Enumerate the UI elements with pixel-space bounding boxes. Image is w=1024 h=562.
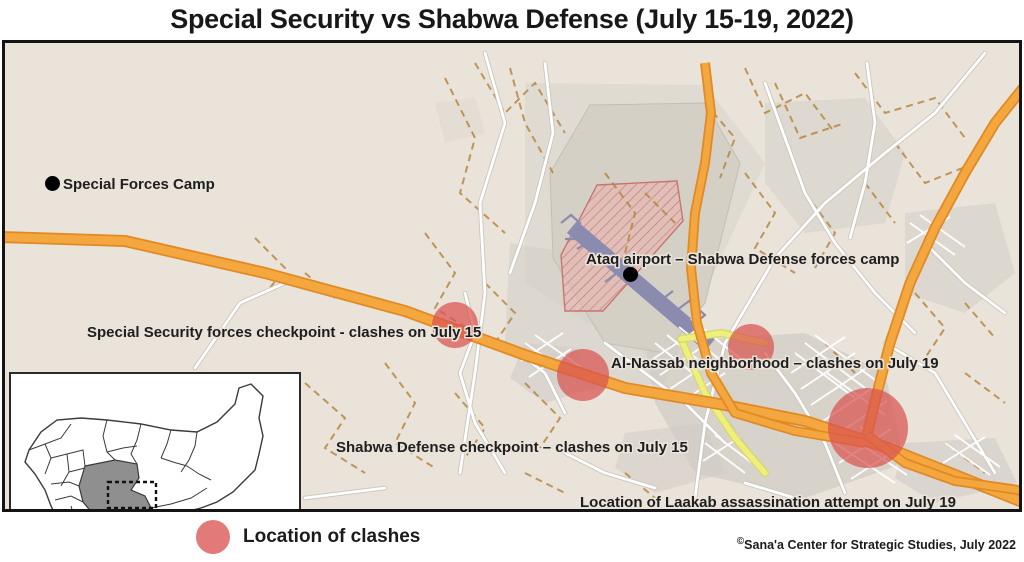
legend-item-clashes: Location of clashes	[196, 520, 420, 554]
source-credit: ©Sana'a Center for Strategic Studies, Ju…	[737, 536, 1016, 552]
ataq-airport-label: Ataq airport – Shabwa Defense forces cam…	[586, 251, 899, 268]
clash-marker	[557, 349, 609, 401]
special-forces-camp-dot	[45, 176, 60, 191]
al-nassab-label: Al-Nassab neighborhood – clashes on July…	[611, 355, 939, 372]
clash-marker-swatch	[196, 520, 230, 554]
page-title: Special Security vs Shabwa Defense (July…	[170, 4, 853, 35]
credit-text: Sana'a Center for Strategic Studies, Jul…	[744, 538, 1016, 552]
figure-legend: Location of clashes ©Sana'a Center for S…	[0, 514, 1024, 562]
inset-locator-map	[9, 372, 301, 512]
shabwa-defense-checkpoint-label: Shabwa Defense checkpoint – clashes on J…	[336, 439, 688, 456]
map-figure: Special Security vs Shabwa Defense (July…	[0, 0, 1024, 562]
clash-marker	[828, 388, 908, 468]
legend-clashes-label: Location of clashes	[243, 526, 420, 548]
legend-special-forces-camp-label: Special Forces Camp	[63, 176, 215, 193]
main-map: Special Forces Camp Ataq airport – Shabw…	[2, 40, 1022, 512]
special-security-checkpoint-label: Special Security forces checkpoint - cla…	[87, 324, 481, 341]
ataq-airport-camp-dot	[623, 267, 638, 282]
laakab-assassination-label: Location of Laakab assassination attempt…	[580, 494, 956, 511]
figure-title-bar: Special Security vs Shabwa Defense (July…	[0, 0, 1024, 38]
